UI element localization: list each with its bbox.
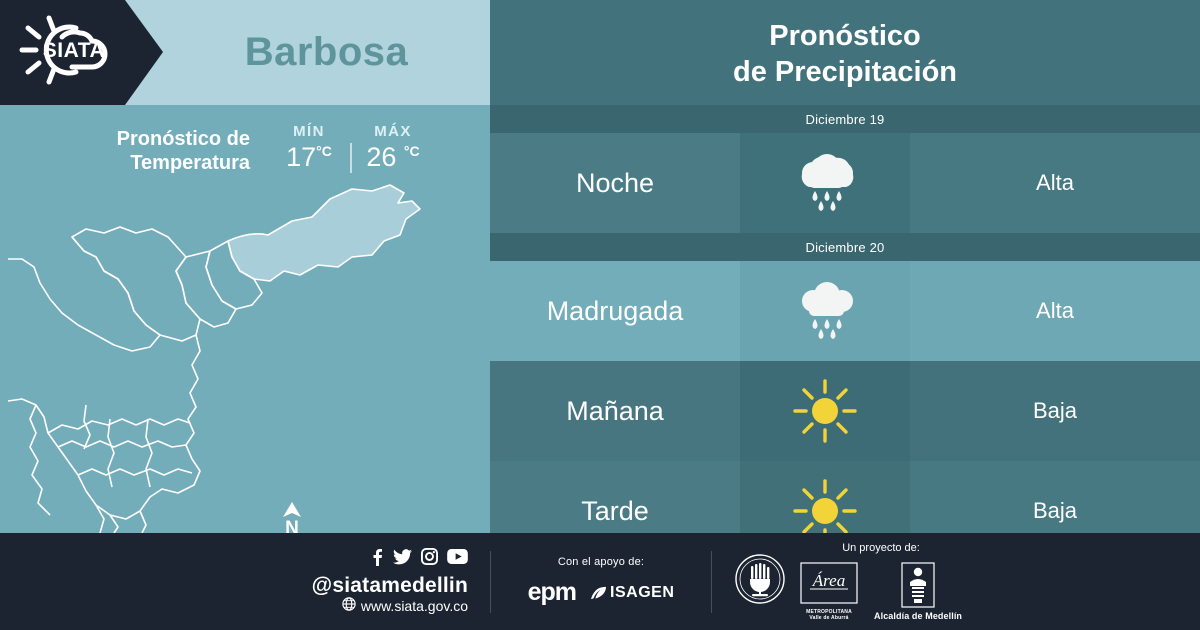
left-panel: SIATA Barbosa Pronóstico de Temperatura … — [0, 0, 490, 533]
social-handle[interactable]: @siatamedellin — [312, 574, 468, 598]
rain-cloud-icon — [740, 133, 910, 233]
isagen-leaf-icon — [590, 585, 607, 600]
epm-logo: epm — [528, 578, 576, 607]
temperature-title: Pronóstico de Temperatura — [60, 123, 250, 176]
temperature-divider — [350, 143, 352, 173]
forecast-period-label: Mañana — [490, 361, 740, 461]
date-band-dec19: Diciembre 19 — [490, 105, 1200, 133]
region-map: N — [0, 175, 490, 533]
support-block: Con el apoyo de: epm ISAGEN — [491, 556, 711, 607]
forecast-row-noche: Noche Alta — [490, 133, 1200, 233]
project-label: Un proyecto de: — [842, 542, 920, 554]
temperature-min-unit: °C — [316, 143, 332, 159]
alcaldia-caption: Alcaldía de Medellín — [874, 611, 962, 621]
area-metropolitana-logo: Área METROPOLITANA Valle de Aburrá — [800, 562, 858, 622]
youtube-icon[interactable] — [447, 549, 468, 569]
facebook-icon[interactable] — [370, 548, 384, 571]
instagram-icon[interactable] — [421, 548, 438, 570]
udea-seal-icon — [734, 553, 786, 610]
sun-cloud-icon: SIATA — [14, 11, 134, 94]
temperature-title-line2: Temperatura — [130, 152, 250, 174]
brand-logo-chevron: SIATA — [0, 0, 163, 105]
temperature-min-label: MÍN — [272, 123, 346, 140]
forecast-period-label: Noche — [490, 133, 740, 233]
city-title: Barbosa — [163, 0, 490, 105]
map-region-barbosa — [228, 185, 420, 281]
website-line[interactable]: www.siata.gov.co — [342, 597, 468, 615]
footer: @siatamedellin www.siata.gov.co Con el a… — [0, 533, 1200, 630]
temperature-title-line1: Pronóstico de — [117, 128, 250, 150]
temperature-max-unit: °C — [404, 143, 420, 159]
date-band-dec20: Diciembre 20 — [490, 233, 1200, 261]
forecast-probability: Alta — [910, 133, 1200, 233]
left-body: Pronóstico de Temperatura MÍN 17°C MÁX — [0, 105, 490, 533]
forecast-probability: Alta — [910, 261, 1200, 361]
amva-wordmark: Área — [812, 571, 845, 590]
temperature-max-value: 26 °C — [356, 142, 430, 173]
left-header: SIATA Barbosa — [0, 0, 490, 105]
forecast-row-madrugada: Madrugada Alta — [490, 261, 1200, 361]
support-label: Con el apoyo de: — [558, 556, 644, 568]
temperature-max: MÁX 26 °C — [356, 123, 430, 173]
svg-text:SIATA: SIATA — [43, 39, 105, 62]
project-block: Un proyecto de: Área METROPOLITANA Valle… — [712, 542, 1200, 622]
amva-caption: METROPOLITANA Valle de Aburrá — [800, 609, 858, 622]
rain-cloud-icon — [740, 261, 910, 361]
social-icons — [370, 548, 468, 571]
alcaldia-logo: Alcaldía de Medellín — [874, 562, 962, 621]
precipitation-title-line2: de Precipitación — [733, 55, 957, 90]
temperature-min: MÍN 17°C — [272, 123, 346, 173]
weather-forecast-card: SIATA Barbosa Pronóstico de Temperatura … — [0, 0, 1200, 630]
globe-icon — [342, 597, 356, 615]
website-url: www.siata.gov.co — [361, 598, 468, 615]
north-arrow-icon — [281, 502, 303, 518]
forecast-period-label: Madrugada — [490, 261, 740, 361]
forecast-row-manana: Mañana Baja — [490, 361, 1200, 461]
precipitation-title: Pronóstico de Precipitación — [490, 0, 1200, 105]
precipitation-title-line1: Pronóstico — [769, 19, 920, 54]
temperature-max-label: MÁX — [356, 123, 430, 140]
precipitation-panel: Pronóstico de Precipitación Diciembre 19… — [490, 0, 1200, 533]
forecast-probability: Baja — [910, 361, 1200, 461]
temperature-min-value: 17°C — [272, 142, 346, 173]
social-block: @siatamedellin www.siata.gov.co — [0, 548, 490, 615]
twitter-icon[interactable] — [393, 548, 412, 571]
sun-icon — [740, 361, 910, 461]
isagen-logo: ISAGEN — [590, 584, 674, 602]
